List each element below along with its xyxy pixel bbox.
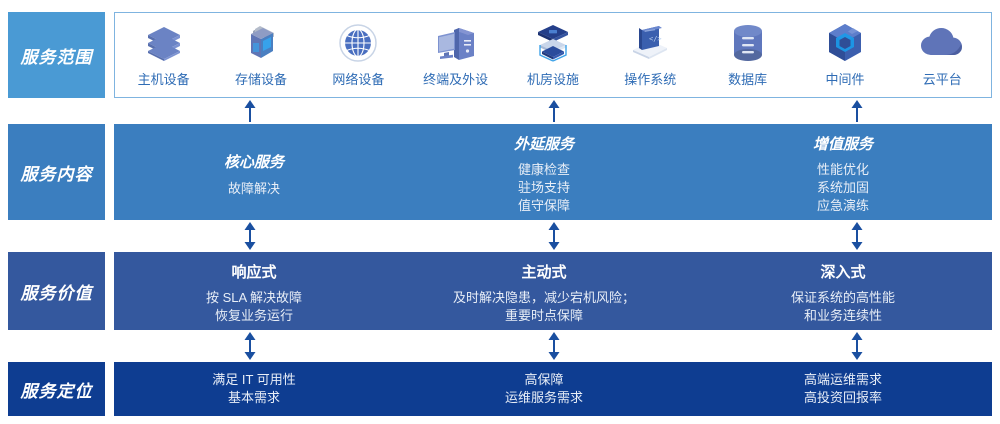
row-label-content: 服务内容 — [8, 124, 105, 220]
middleware-cube-icon — [823, 23, 867, 63]
operating-system-icon: </> — [628, 23, 672, 63]
scope-item-datacenter-facility[interactable]: 机房设施 — [504, 13, 601, 97]
scope-item-label: 存储设备 — [235, 69, 287, 88]
content-column-line: 故障解决 — [228, 180, 280, 198]
connector-content-to-value-col2 — [545, 222, 563, 250]
desktop-pc-icon — [434, 23, 478, 63]
row-label-value: 服务价值 — [8, 252, 105, 330]
svg-text:</>: </> — [649, 35, 662, 43]
scope-item-label: 云平台 — [923, 69, 962, 88]
connector-scope-to-content-col2 — [545, 100, 563, 122]
content-column-title: 外延服务 — [514, 133, 574, 154]
cloud-platform-icon — [920, 23, 964, 63]
row-label-position: 服务定位 — [8, 362, 105, 416]
value-column-proactive[interactable]: 主动式 及时解决隐患，减少宕机风险； 重要时点保障 — [394, 252, 694, 330]
value-column-title: 主动式 — [521, 261, 566, 282]
value-column-line: 重要时点保障 — [505, 307, 583, 325]
value-column-line: 和业务连续性 — [804, 307, 882, 325]
position-column-basic[interactable]: 满足 IT 可用性 基本需求 — [114, 362, 394, 416]
scope-item-middleware[interactable]: 中间件 — [796, 13, 893, 97]
position-column-line: 运维服务需求 — [505, 389, 583, 407]
scope-icon-grid: 主机设备 存 — [115, 13, 991, 97]
position-column-line: 满足 IT 可用性 — [212, 371, 296, 389]
value-column-line: 保证系统的高性能 — [791, 289, 895, 307]
value-column-responsive[interactable]: 响应式 按 SLA 解决故障 恢复业务运行 — [114, 252, 394, 330]
content-column-line: 应急演练 — [817, 197, 869, 215]
row-label-scope: 服务范围 — [8, 12, 105, 98]
content-column-title: 增值服务 — [813, 133, 873, 154]
globe-network-icon — [336, 23, 380, 63]
content-column-line: 健康检查 — [518, 161, 570, 179]
scope-item-label: 终端及外设 — [423, 69, 488, 88]
row-label-position-text: 服务定位 — [21, 377, 93, 402]
value-column-title: 深入式 — [820, 261, 865, 282]
scope-item-label: 数据库 — [728, 69, 767, 88]
content-column-line: 性能优化 — [817, 161, 869, 179]
scope-item-label: 操作系统 — [624, 69, 676, 88]
connector-value-to-position-col1 — [241, 332, 259, 360]
scope-item-host-device[interactable]: 主机设备 — [115, 13, 212, 97]
value-column-grid: 响应式 按 SLA 解决故障 恢复业务运行 主动式 及时解决隐患，减少宕机风险；… — [114, 252, 992, 330]
content-column-core[interactable]: 核心服务 故障解决 — [114, 124, 394, 220]
content-column-line: 值守保障 — [518, 197, 570, 215]
value-column-indepth[interactable]: 深入式 保证系统的高性能 和业务连续性 — [694, 252, 992, 330]
position-column-high-assurance[interactable]: 高保障 运维服务需求 — [394, 362, 694, 416]
scope-item-label: 主机设备 — [138, 69, 190, 88]
scope-item-label: 网络设备 — [332, 69, 384, 88]
row-label-value-text: 服务价值 — [21, 279, 93, 304]
position-column-line: 高保障 — [524, 371, 563, 389]
connector-content-to-value-col1 — [241, 222, 259, 250]
connector-value-to-position-col3 — [848, 332, 866, 360]
scope-item-terminal-peripheral[interactable]: 终端及外设 — [407, 13, 504, 97]
row-label-scope-text: 服务范围 — [21, 43, 93, 68]
position-column-line: 高投资回报率 — [804, 389, 882, 407]
position-column-high-end[interactable]: 高端运维需求 高投资回报率 — [694, 362, 992, 416]
value-column-line: 恢复业务运行 — [215, 307, 293, 325]
scope-item-label: 中间件 — [825, 69, 864, 88]
content-column-value-added[interactable]: 增值服务 性能优化 系统加固 应急演练 — [694, 124, 992, 220]
connector-content-to-value-col3 — [848, 222, 866, 250]
row-label-content-text: 服务内容 — [21, 160, 93, 185]
scope-item-storage-device[interactable]: 存储设备 — [212, 13, 309, 97]
database-icon — [726, 23, 770, 63]
content-column-grid: 核心服务 故障解决 外延服务 健康检查 驻场支持 值守保障 增值服务 性能优化 … — [114, 124, 992, 220]
position-column-line: 高端运维需求 — [804, 371, 882, 389]
scope-item-network-device[interactable]: 网络设备 — [310, 13, 407, 97]
scope-item-operating-system[interactable]: </> 操作系统 — [602, 13, 699, 97]
value-column-title: 响应式 — [231, 261, 276, 282]
value-column-line: 及时解决隐患，减少宕机风险； — [453, 289, 635, 307]
scope-item-database[interactable]: 数据库 — [699, 13, 796, 97]
position-column-line: 基本需求 — [228, 389, 280, 407]
panel-service-position: 满足 IT 可用性 基本需求 高保障 运维服务需求 高端运维需求 高投资回报率 — [114, 362, 992, 416]
content-column-title: 核心服务 — [224, 151, 284, 172]
connector-value-to-position-col2 — [545, 332, 563, 360]
panel-service-scope: 主机设备 存 — [114, 12, 992, 98]
content-column-line: 驻场支持 — [518, 179, 570, 197]
data-center-facility-icon — [531, 23, 575, 63]
server-stack-icon — [142, 23, 186, 63]
panel-service-value: 响应式 按 SLA 解决故障 恢复业务运行 主动式 及时解决隐患，减少宕机风险；… — [114, 252, 992, 330]
connector-scope-to-content-col1 — [241, 100, 259, 122]
content-column-extended[interactable]: 外延服务 健康检查 驻场支持 值守保障 — [394, 124, 694, 220]
scope-item-label: 机房设施 — [527, 69, 579, 88]
connector-scope-to-content-col3 — [848, 100, 866, 122]
scope-item-cloud-platform[interactable]: 云平台 — [894, 13, 991, 97]
value-column-line: 按 SLA 解决故障 — [206, 289, 302, 307]
panel-service-content: 核心服务 故障解决 外延服务 健康检查 驻场支持 值守保障 增值服务 性能优化 … — [114, 124, 992, 220]
content-column-line: 系统加固 — [817, 179, 869, 197]
service-layer-diagram: 服务范围 — [0, 0, 1000, 424]
storage-array-icon — [239, 23, 283, 63]
position-column-grid: 满足 IT 可用性 基本需求 高保障 运维服务需求 高端运维需求 高投资回报率 — [114, 362, 992, 416]
